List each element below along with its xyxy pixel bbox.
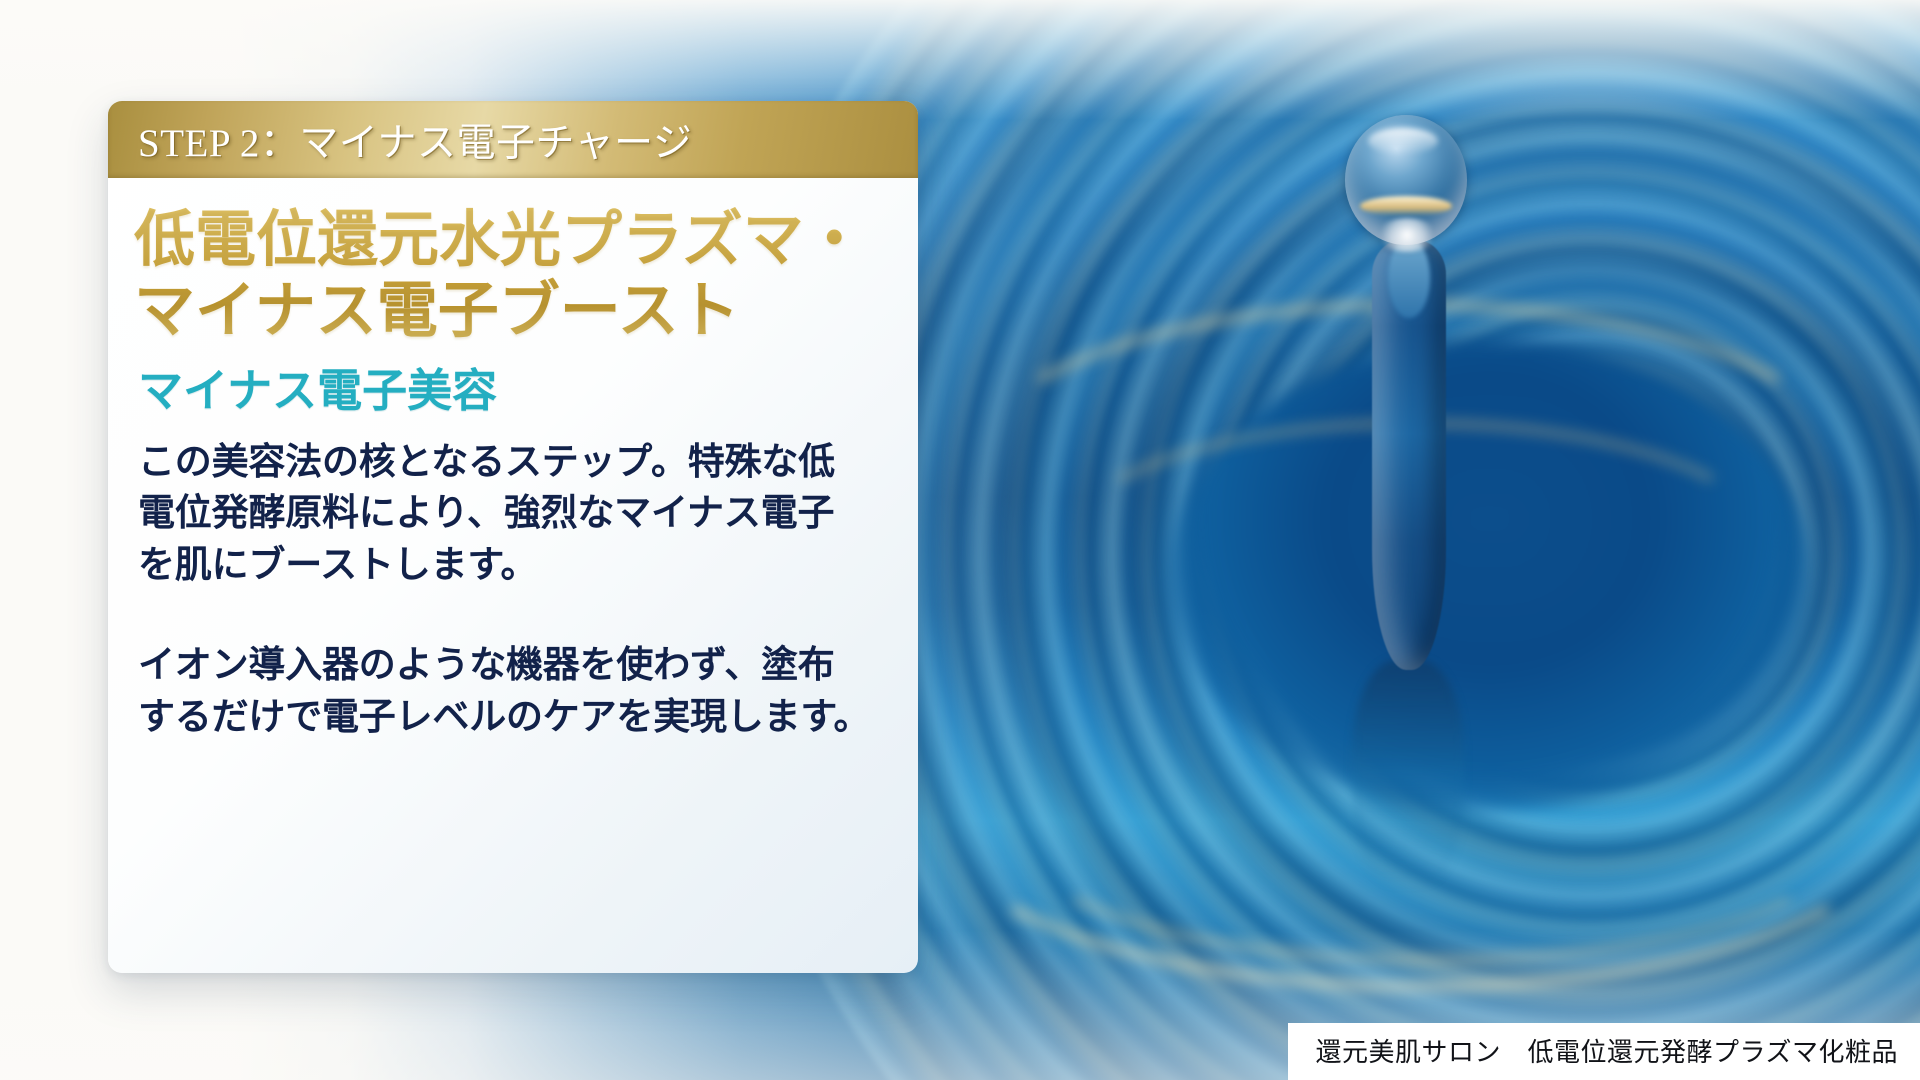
droplet-gold-band — [1360, 196, 1452, 216]
card-body: 低電位還元水光プラズマ・ マイナス電子ブースト マイナス電子美容 この美容法の核… — [108, 178, 918, 742]
column-reflection — [1352, 660, 1464, 890]
body-paragraph-1: この美容法の核となるステップ。特殊な低 電位発酵原料により、強烈なマイナス電子 … — [138, 436, 888, 591]
subheadline: マイナス電子美容 — [138, 364, 888, 418]
footer-caption: 還元美肌サロン 低電位還元発酵プラズマ化粧品 — [1288, 1023, 1920, 1080]
step-badge-label: STEP 2：マイナス電子チャージ — [138, 112, 692, 168]
droplet-base-glow — [1376, 218, 1438, 252]
body-paragraph-2: イオン導入器のような機器を使わず、塗布 するだけで電子レベルのケアを実現します。 — [138, 639, 888, 743]
droplet-highlight — [1368, 128, 1438, 154]
step-banner: STEP 2：マイナス電子チャージ — [108, 101, 918, 178]
headline: 低電位還元水光プラズマ・ マイナス電子ブースト — [134, 206, 888, 348]
info-card: STEP 2：マイナス電子チャージ 低電位還元水光プラズマ・ マイナス電子ブース… — [108, 101, 918, 973]
